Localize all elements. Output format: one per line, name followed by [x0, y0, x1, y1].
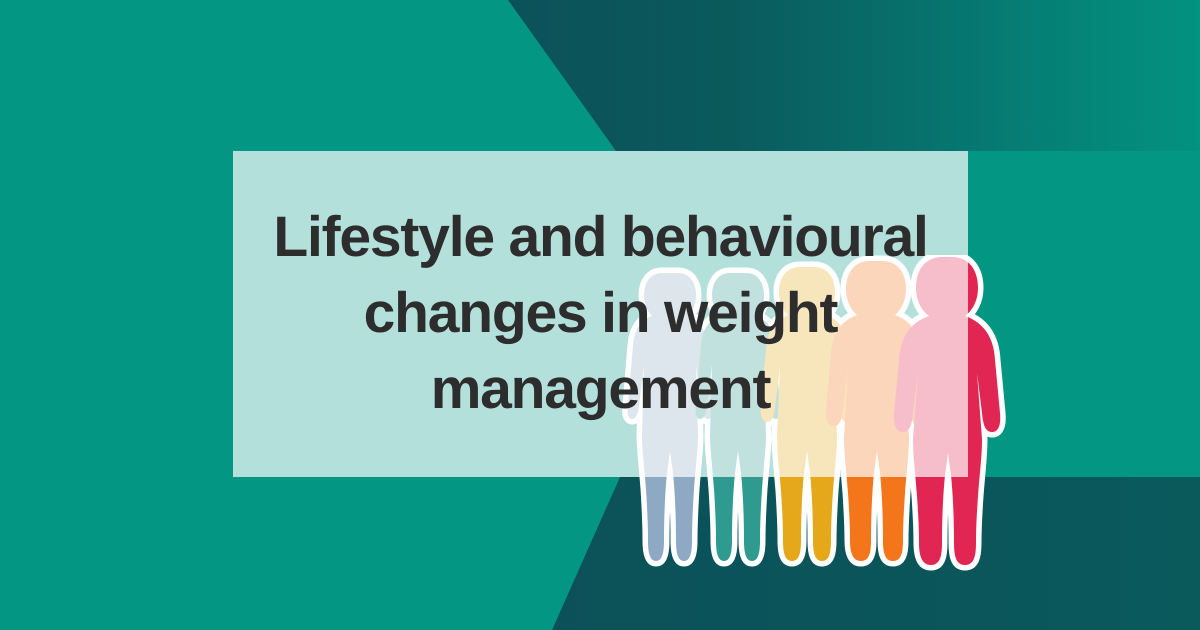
- people-silhouettes-group: [612, 255, 1012, 575]
- banner-card: Lifestyle and behavioural changes in wei…: [0, 0, 1200, 630]
- top-diagonal-wedge: [508, 0, 1200, 151]
- background-shapes: [0, 0, 1200, 630]
